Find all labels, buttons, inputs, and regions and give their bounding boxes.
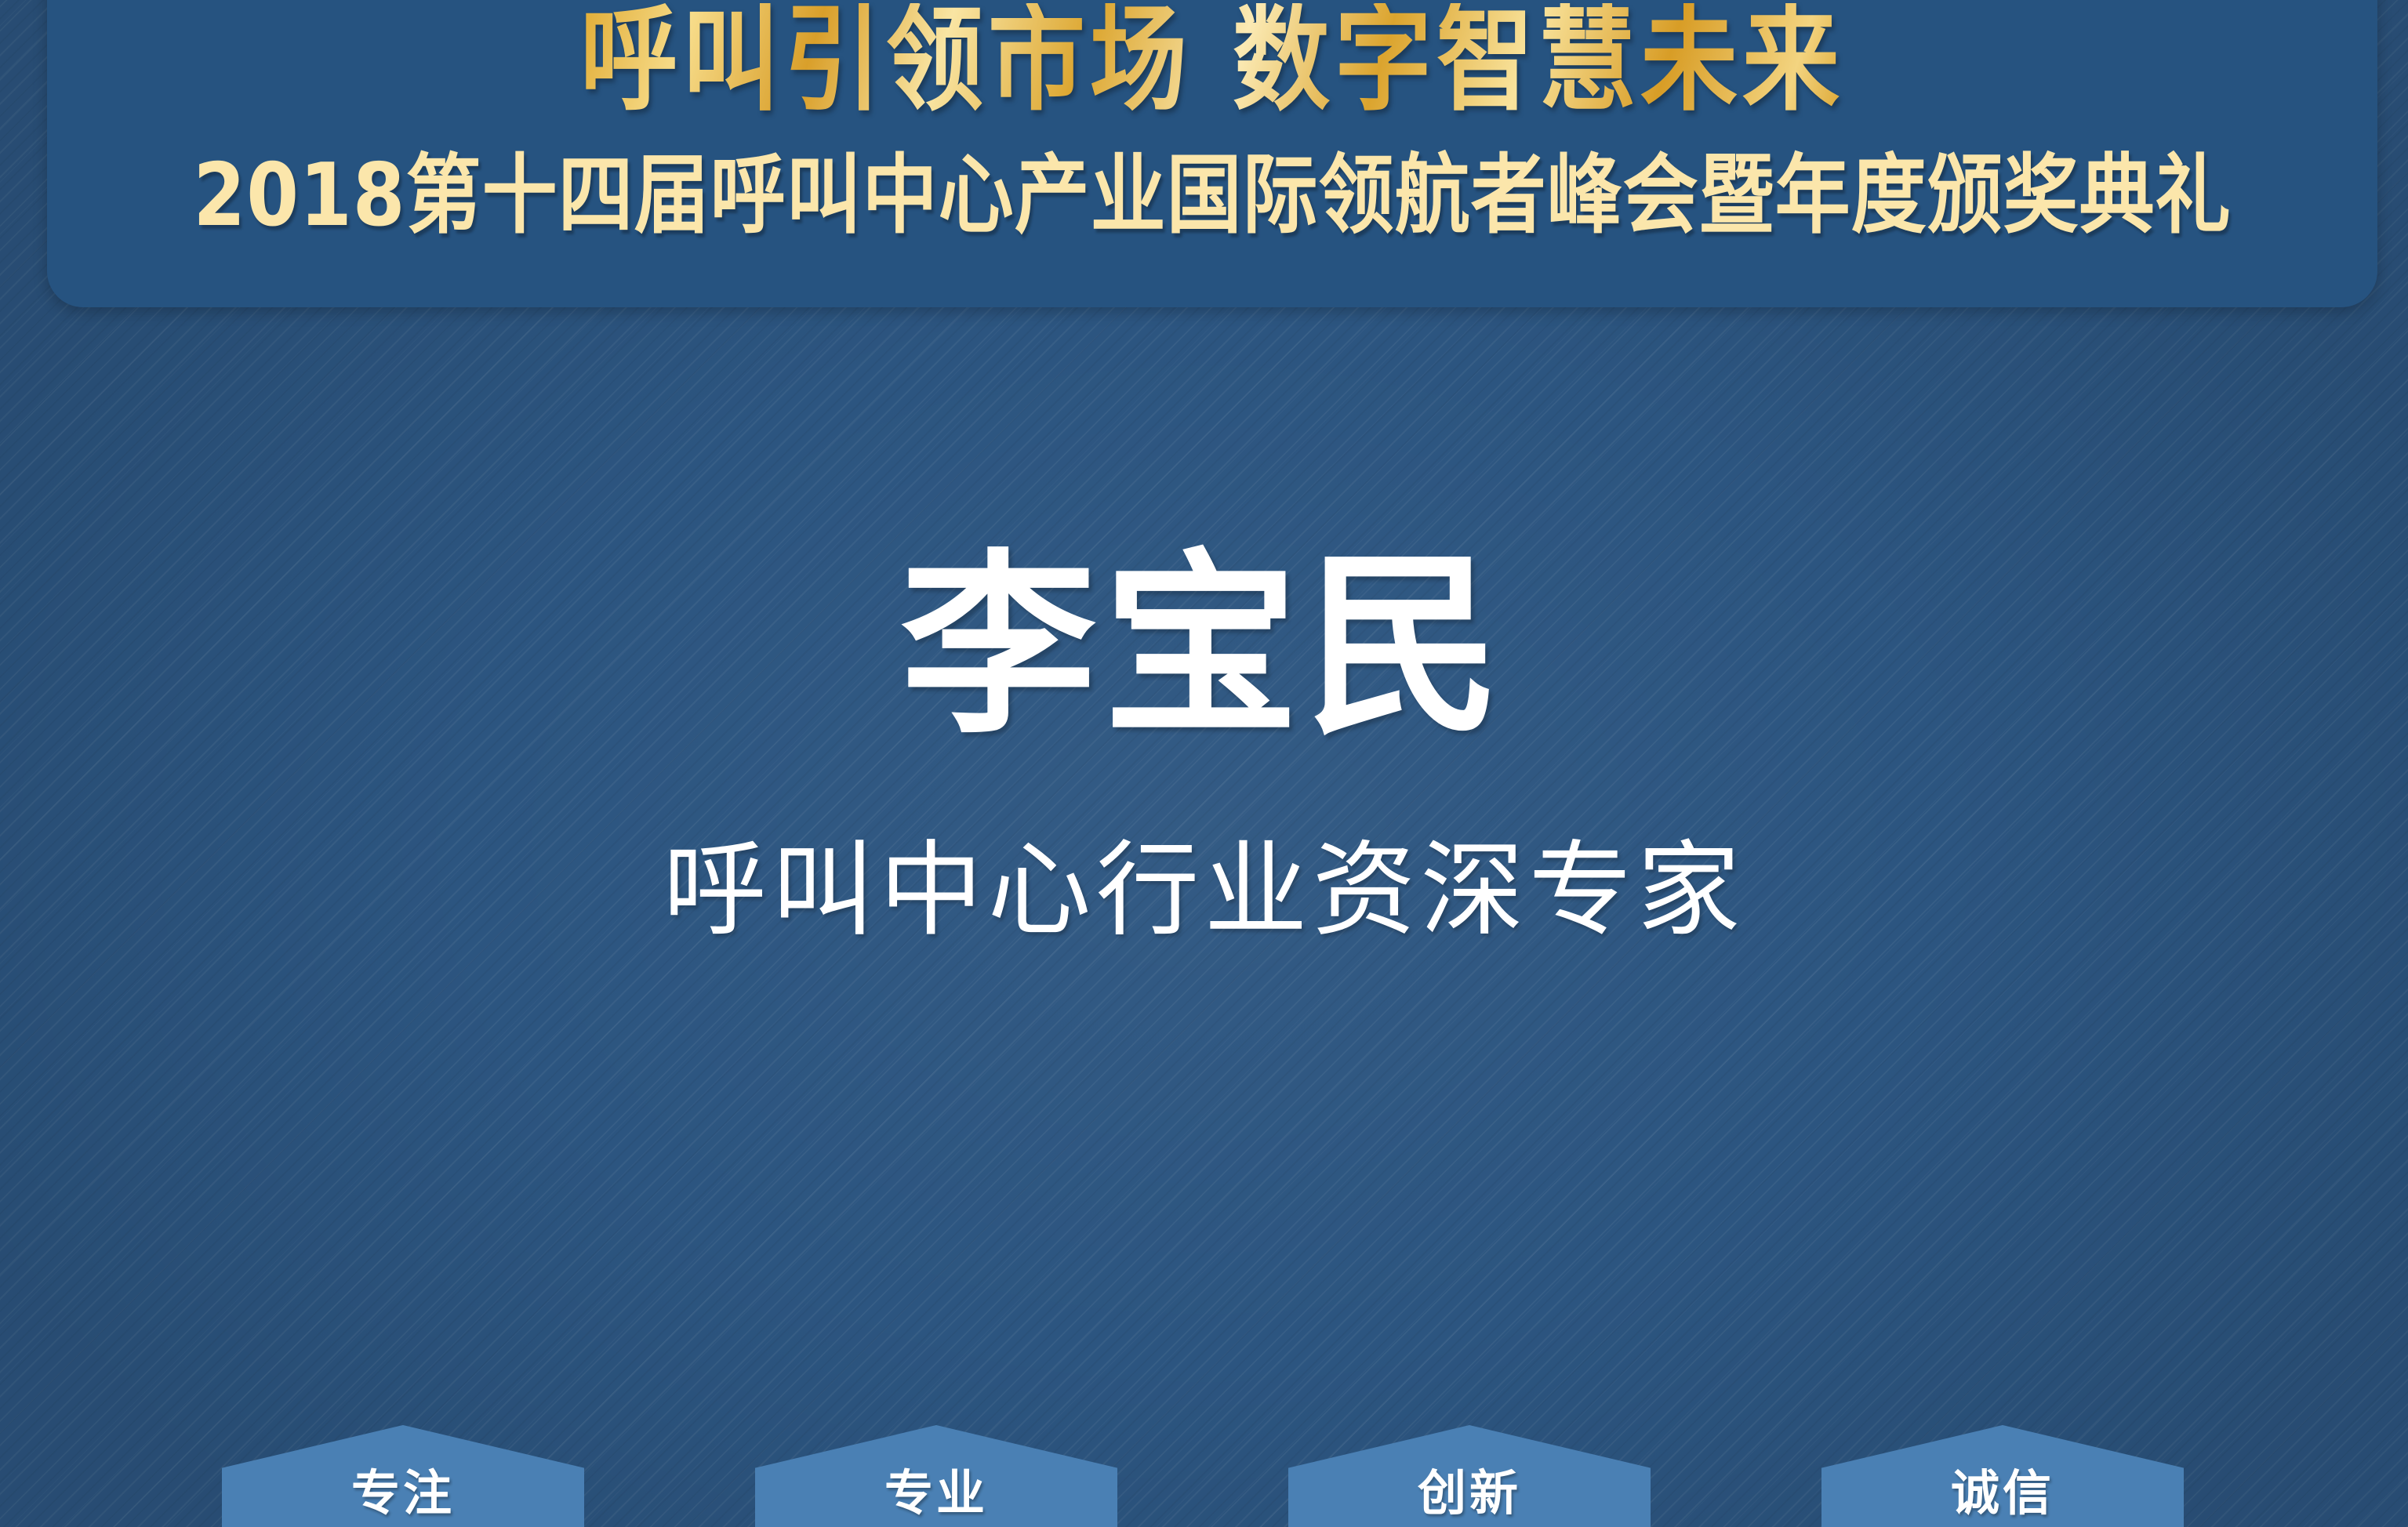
- value-badge-focus: 专注: [222, 1425, 584, 1527]
- event-full-name: 2018第十四届呼叫中心产业国际领航者峰会暨年度颁奖典礼: [193, 152, 2231, 238]
- speaker-role: 呼叫中心行业资深专家: [0, 839, 2408, 942]
- event-slogan-part-1: 呼叫引领市场: [580, 0, 1192, 127]
- value-badge-label: 创新: [1418, 1469, 1521, 1527]
- speaker-name: 李宝民: [0, 549, 2408, 745]
- event-header-banner: 呼叫引领市场数字智慧未来 2018第十四届呼叫中心产业国际领航者峰会暨年度颁奖典…: [47, 0, 2377, 307]
- event-slogan: 呼叫引领市场数字智慧未来: [579, 3, 1846, 118]
- value-badge-integrity: 诚信: [1821, 1425, 2184, 1527]
- value-badge-professional: 专业: [755, 1425, 1117, 1527]
- value-badge-row: 专注 专业 创新 诚信: [0, 1425, 2408, 1527]
- value-badge-label: 专业: [884, 1469, 988, 1527]
- value-badge-label: 专注: [351, 1469, 455, 1527]
- value-badge-innovation: 创新: [1288, 1425, 1651, 1527]
- event-slogan-part-2: 数字智慧未来: [1233, 0, 1844, 127]
- value-badge-label: 诚信: [1951, 1469, 2054, 1527]
- presentation-slide: 呼叫引领市场数字智慧未来 2018第十四届呼叫中心产业国际领航者峰会暨年度颁奖典…: [0, 0, 2408, 1527]
- speaker-block: 李宝民 呼叫中心行业资深专家: [0, 549, 2408, 942]
